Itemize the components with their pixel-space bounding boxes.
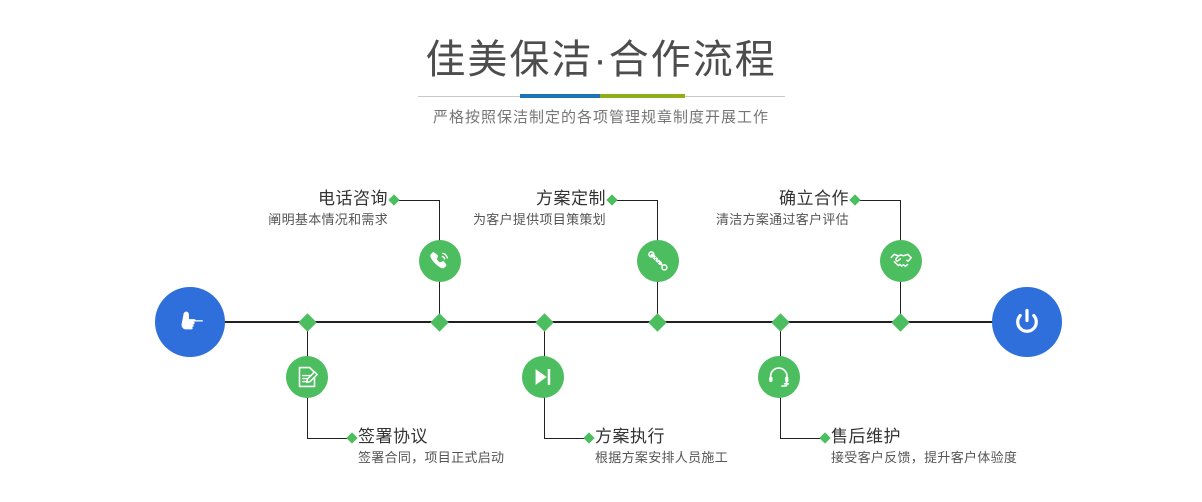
step-title-2: 签署协议 — [358, 426, 598, 448]
page-subtitle: 严格按照保洁制定的各项管理规章制度开展工作 — [0, 107, 1202, 129]
step-title-6: 售后维护 — [831, 426, 1111, 448]
power-icon — [1007, 302, 1047, 342]
connector-tip-2 — [346, 432, 357, 443]
axis-marker-4 — [535, 313, 553, 331]
step-title-1: 电话咨询 — [150, 188, 388, 210]
connector-tip-5 — [849, 194, 860, 205]
header-divider-green-segment — [600, 94, 685, 98]
flow-diagram: 佳美保洁·合作流程 严格按照保洁制定的各项管理规章制度开展工作 — [0, 0, 1202, 502]
document-sign-icon — [294, 364, 320, 390]
step-desc-1: 阐明基本情况和需求 — [150, 210, 388, 230]
step-node-1[interactable] — [419, 240, 461, 282]
step-node-4[interactable] — [522, 356, 564, 398]
step-desc-6: 接受客户反馈，提升客户体验度 — [831, 448, 1111, 468]
connector-hline-2 — [307, 438, 352, 439]
axis-marker-6 — [771, 313, 789, 331]
axis-marker-2 — [298, 313, 316, 331]
page-title: 佳美保洁·合作流程 — [0, 36, 1202, 84]
axis-marker-3 — [648, 313, 666, 331]
step-label-5: 确立合作 清洁方案通过客户评估 — [610, 188, 849, 230]
step-label-6: 售后维护 接受客户反馈，提升客户体验度 — [831, 426, 1111, 468]
axis-marker-5 — [891, 313, 909, 331]
step-title-5: 确立合作 — [610, 188, 849, 210]
pointing-hand-icon — [170, 302, 210, 342]
step-label-3: 方案定制 为客户提供项目策策划 — [370, 188, 606, 230]
step-desc-2: 签署合同，项目正式启动 — [358, 448, 598, 468]
step-label-1: 电话咨询 阐明基本情况和需求 — [150, 188, 388, 230]
header-divider-blue-segment — [520, 94, 600, 98]
step-label-2: 签署协议 签署合同，项目正式启动 — [358, 426, 598, 468]
connector-hline-5 — [856, 200, 901, 201]
step-desc-5: 清洁方案通过客户评估 — [610, 210, 849, 230]
step-title-4: 方案执行 — [595, 426, 835, 448]
step-title-3: 方案定制 — [370, 188, 606, 210]
step-node-5[interactable] — [880, 240, 922, 282]
timeline-start-node — [155, 287, 225, 357]
step-node-2[interactable] — [286, 356, 328, 398]
play-execute-icon — [530, 364, 556, 390]
step-label-4: 方案执行 根据方案安排人员施工 — [595, 426, 835, 468]
phone-call-icon — [427, 248, 453, 274]
pen-ruler-icon — [645, 248, 671, 274]
axis-marker-1 — [430, 313, 448, 331]
handshake-icon — [888, 248, 914, 274]
timeline-end-node — [992, 287, 1062, 357]
step-desc-3: 为客户提供项目策策划 — [370, 210, 606, 230]
headset-support-icon — [766, 364, 792, 390]
step-desc-4: 根据方案安排人员施工 — [595, 448, 835, 468]
step-node-6[interactable] — [758, 356, 800, 398]
step-node-3[interactable] — [637, 240, 679, 282]
